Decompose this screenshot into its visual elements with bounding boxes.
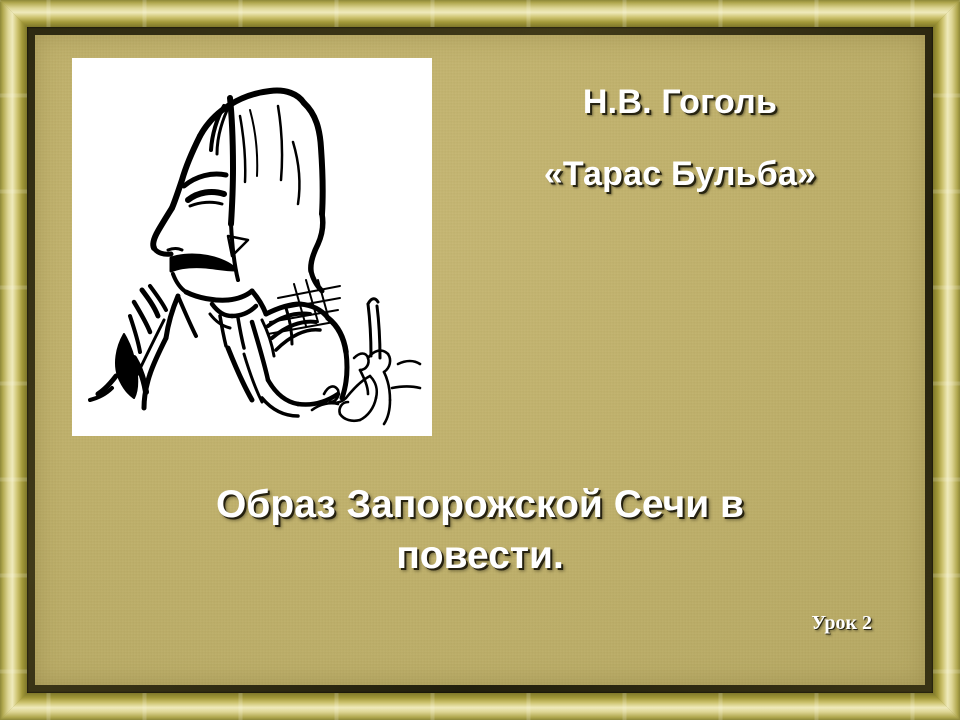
gogol-portrait-image [72, 58, 432, 436]
main-heading: Образ Запорожской Сечи в повести. [130, 480, 830, 581]
presentation-slide: Н.В. Гоголь «Тарас Бульба» Образ Запорож… [0, 0, 960, 720]
picture-frame-band-right [933, 0, 960, 720]
work-title-line: «Тарас Бульба» [435, 157, 925, 193]
picture-frame-band-left [0, 0, 27, 720]
author-line: Н.В. Гоголь [435, 85, 925, 121]
picture-frame-band-bottom [0, 693, 960, 720]
lesson-label: Урок 2 [811, 612, 872, 635]
title-block: Н.В. Гоголь «Тарас Бульба» [435, 85, 925, 192]
slide-content-area: Н.В. Гоголь «Тарас Бульба» Образ Запорож… [35, 35, 925, 685]
picture-frame-band-top [0, 0, 960, 27]
gogol-portrait-icon [72, 58, 432, 436]
